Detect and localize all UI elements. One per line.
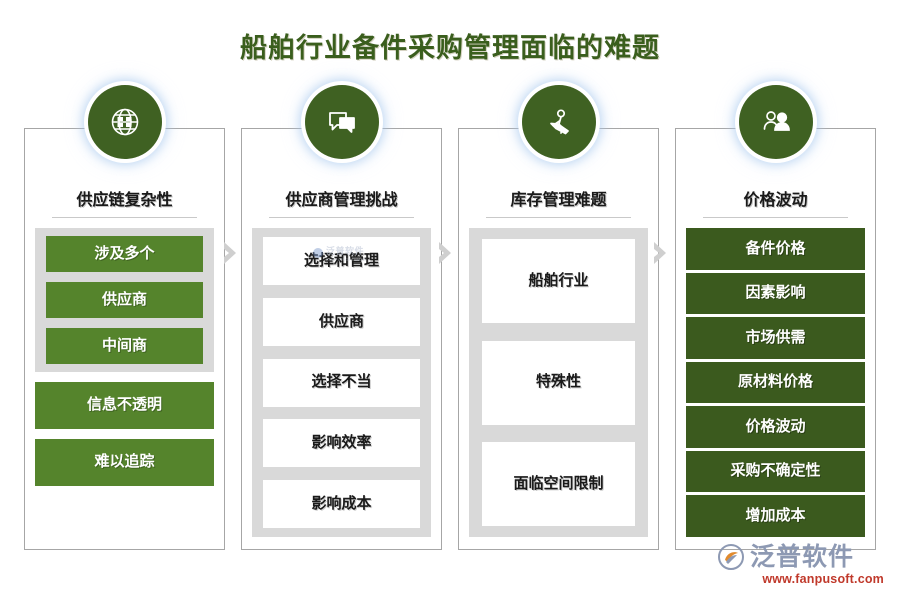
panel-edge-bottom [24,549,225,550]
brand-row: 泛普软件 [718,544,884,570]
item-chip[interactable]: 中间商 [46,328,203,364]
column-supply-chain: 供应链复杂性 涉及多个 供应商 中间商 信息不透明 难以追踪 [24,128,225,550]
panel-edge-top-left [24,128,88,129]
panel-edge-top-right [161,128,225,129]
item-chip[interactable]: 影响效率 [263,419,420,467]
people-icon [739,85,813,159]
panel-edge-top-right [595,128,659,129]
item-chip[interactable]: 特殊性 [482,341,635,425]
item-chip[interactable]: 影响成本 [263,480,420,528]
flow-arrow-icon [437,240,457,266]
panel-edge-top-left [675,128,739,129]
chat-bubbles-icon [305,85,379,159]
item-chip[interactable]: 面临空间限制 [482,442,635,526]
items-list: 涉及多个 供应商 中间商 信息不透明 难以追踪 [35,228,214,537]
item-chip[interactable]: 选择不当 [263,359,420,407]
item-chip[interactable]: 增加成本 [686,495,865,537]
panel-edge-top-right [378,128,442,129]
flow-arrow-icon [222,240,242,266]
panel-edge-bottom [458,549,659,550]
item-chip[interactable]: 选择和管理 [263,237,420,285]
column-heading: 价格波动 [675,186,876,210]
item-chip[interactable]: 信息不透明 [35,382,214,429]
column-inventory-management: 库存管理难题 船舶行业 特殊性 面临空间限制 [458,128,659,550]
flow-arrow-icon [652,240,672,266]
brand-name: 泛普软件 [750,545,854,570]
item-chip[interactable]: 因素影响 [686,273,865,315]
item-chip[interactable]: 供应商 [263,298,420,346]
heading-divider [703,217,848,218]
items-list: 选择和管理 供应商 选择不当 影响效率 影响成本 [252,228,431,537]
brand-url: www.fanpusoft.com [718,572,884,586]
brand-mark-icon [718,544,744,570]
item-chip[interactable]: 价格波动 [686,406,865,448]
heading-divider [52,217,197,218]
heading-divider [269,217,414,218]
panel-edge-top-left [458,128,522,129]
item-chip[interactable]: 供应商 [46,282,203,318]
item-chip[interactable]: 市场供需 [686,317,865,359]
items-list: 船舶行业 特殊性 面临空间限制 [469,228,648,537]
brand-logo: 泛普软件 www.fanpusoft.com [718,544,884,590]
column-supplier-management: 供应商管理挑战 选择和管理 供应商 选择不当 影响效率 影响成本 泛普软件 FA… [241,128,442,550]
worker-tool-icon [522,85,596,159]
column-heading: 供应商管理挑战 [241,186,442,210]
item-chip[interactable]: 船舶行业 [482,239,635,323]
heading-divider [486,217,631,218]
globe-icon [88,85,162,159]
grouped-items-box: 船舶行业 特殊性 面临空间限制 [469,228,648,537]
column-heading: 库存管理难题 [458,186,659,210]
grouped-items-box: 选择和管理 供应商 选择不当 影响效率 影响成本 [252,228,431,537]
column-price-fluctuation: 价格波动 备件价格 因素影响 市场供需 原材料价格 价格波动 采购不确定性 增加… [675,128,876,550]
page-title: 船舶行业备件采购管理面临的难题 [0,26,900,65]
item-chip[interactable]: 备件价格 [686,228,865,270]
panel-edge-top-right [812,128,876,129]
panel-edge-top-left [241,128,305,129]
item-chip[interactable]: 采购不确定性 [686,451,865,493]
column-heading: 供应链复杂性 [24,186,225,210]
panel-edge-bottom [241,549,442,550]
items-list: 备件价格 因素影响 市场供需 原材料价格 价格波动 采购不确定性 增加成本 [686,228,865,537]
grouped-items-box: 涉及多个 供应商 中间商 [35,228,214,372]
item-chip[interactable]: 涉及多个 [46,236,203,272]
infographic-canvas: 船舶行业备件采购管理面临的难题 [0,0,900,600]
columns-container: 供应链复杂性 涉及多个 供应商 中间商 信息不透明 难以追踪 [24,128,876,550]
item-chip[interactable]: 原材料价格 [686,362,865,404]
item-chip[interactable]: 难以追踪 [35,439,214,486]
